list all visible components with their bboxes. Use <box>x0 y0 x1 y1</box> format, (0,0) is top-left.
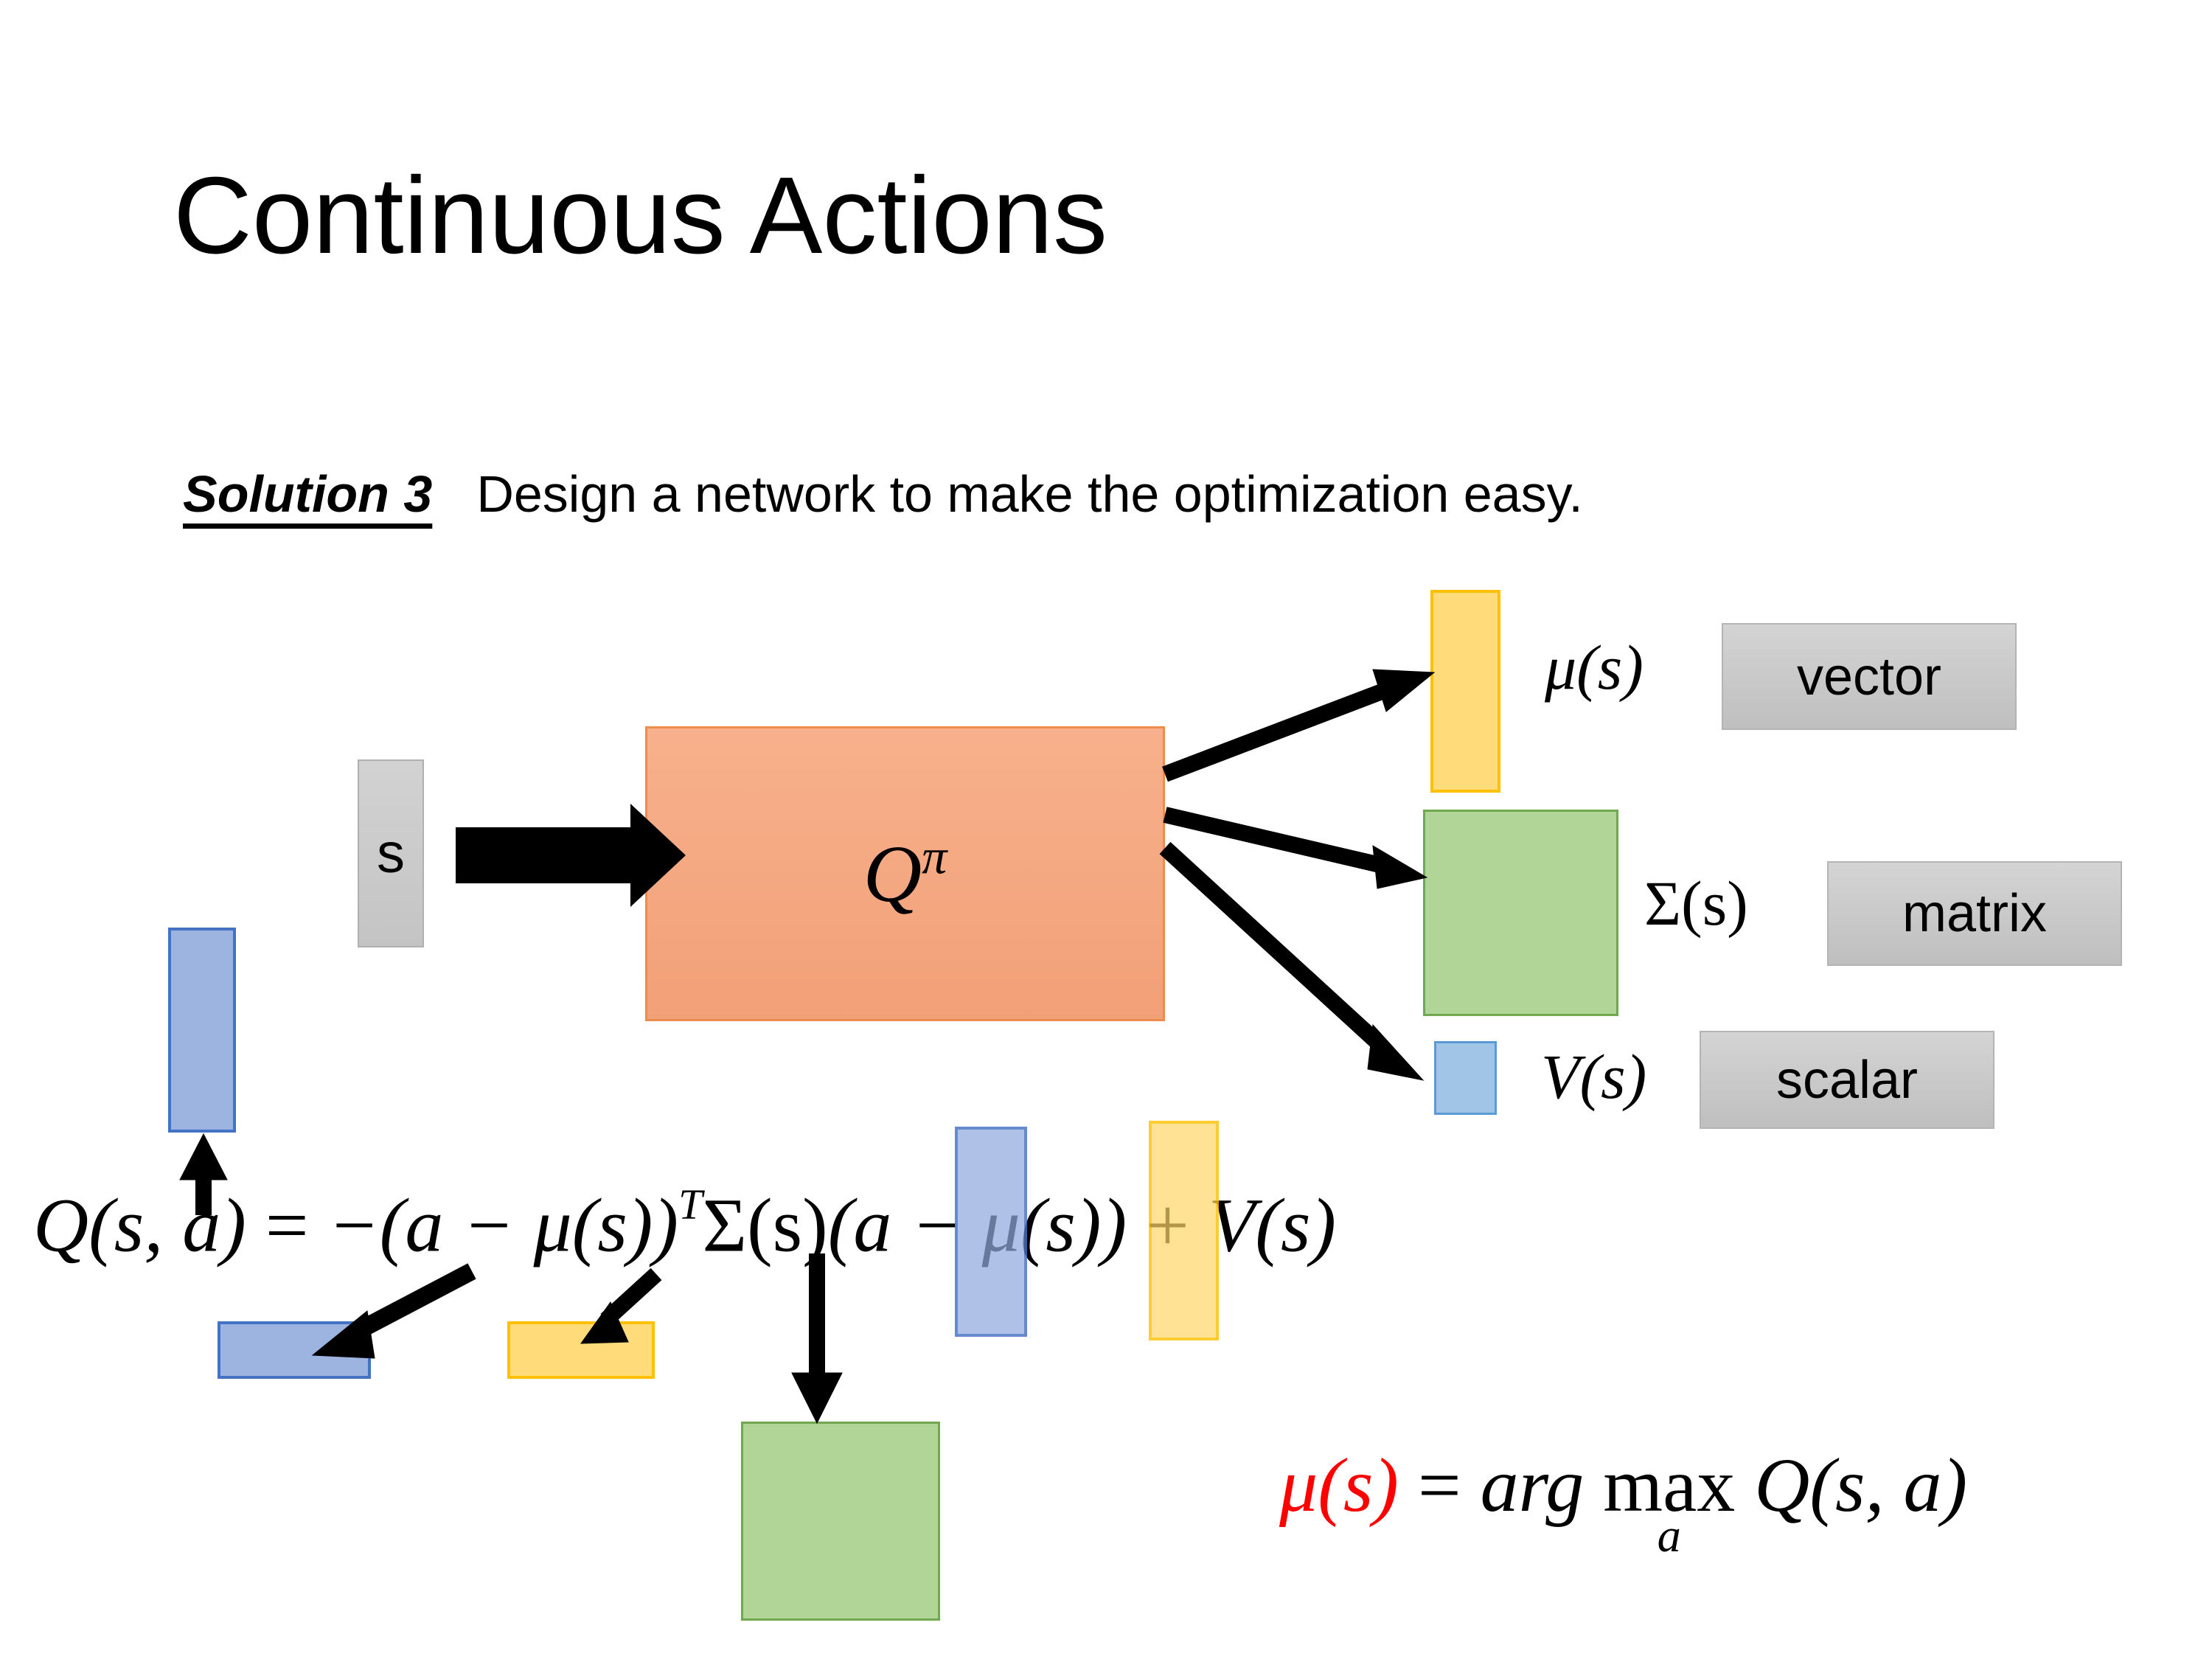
covariance-legend-box-green <box>741 1422 940 1621</box>
argmax-max: max <box>1603 1454 1735 1517</box>
argmax-equation: μ(s) = arg max a Q(s, a) <box>1279 1441 1967 1556</box>
argmax-max-subscript: a <box>1658 1517 1681 1556</box>
equation-action-overlay-bar <box>955 1127 1027 1337</box>
legend-matrix-box: matrix <box>1827 861 2122 966</box>
legend-vector-label: vector <box>1797 647 1941 707</box>
output-mean-bar <box>1430 590 1500 793</box>
arrow-head-mean <box>1373 669 1434 712</box>
eq-value: V(s) <box>1208 1183 1336 1268</box>
output-value-math: V(s) <box>1541 1040 1646 1113</box>
slide-canvas: Continuous Actions Solution 3Design a ne… <box>0 0 2212 1659</box>
output-value-box <box>1434 1041 1497 1115</box>
page-title: Continuous Actions <box>173 159 1107 273</box>
arrow-covariance-term-to-legend <box>792 1253 842 1423</box>
argmax-equals: = <box>1418 1443 1461 1528</box>
eq-lhs: Q(s, a) <box>33 1183 246 1268</box>
legend-scalar-box: scalar <box>1700 1031 1994 1129</box>
argmax-objective: Q(s, a) <box>1754 1443 1967 1528</box>
mean-legend-bar-yellow <box>507 1321 655 1379</box>
arrow-network-to-value <box>1165 848 1382 1047</box>
eq-transpose: T <box>678 1180 702 1228</box>
arrow-network-to-mean <box>1165 686 1397 774</box>
q-function-equation: Q(s, a) = −(a − μ(s))TΣ(s)(a − μ(s)) + V… <box>33 1180 1336 1270</box>
arrow-network-to-covariance <box>1165 815 1386 866</box>
output-covariance-math: Σ(s) <box>1644 866 1748 940</box>
state-input-bar: s <box>358 759 424 947</box>
subtitle-line: Solution 3Design a network to make the o… <box>183 465 1583 524</box>
subtitle-text: Design a network to make the optimizatio… <box>476 465 1583 523</box>
equation-mean-overlay-bar <box>1149 1121 1219 1340</box>
q-network-label: Qπ <box>863 827 947 921</box>
eq-sigma: Σ(s) <box>702 1183 827 1268</box>
action-highlight-bar-vertical <box>168 928 236 1133</box>
output-mean-math: μ(s) <box>1545 630 1644 704</box>
q-network-box: Qπ <box>645 726 1165 1021</box>
eq-rhs-prefix: −(a − μ(s)) <box>328 1183 679 1268</box>
legend-scalar-label: scalar <box>1776 1050 1918 1110</box>
arrow-head-covariance <box>1373 846 1427 888</box>
argmax-arg: arg <box>1481 1443 1585 1528</box>
argmax-lhs: μ(s) <box>1279 1443 1399 1528</box>
argmax-max-stack: max a <box>1603 1454 1735 1556</box>
legend-matrix-label: matrix <box>1902 883 2047 944</box>
output-covariance-box <box>1423 810 1618 1016</box>
state-input-label: s <box>377 821 405 886</box>
legend-vector-box: vector <box>1722 623 2017 730</box>
action-legend-bar-blue <box>218 1321 371 1379</box>
eq-equals: = <box>265 1183 309 1268</box>
arrow-head-value <box>1368 1025 1423 1080</box>
solution-label: Solution 3 <box>183 465 432 523</box>
